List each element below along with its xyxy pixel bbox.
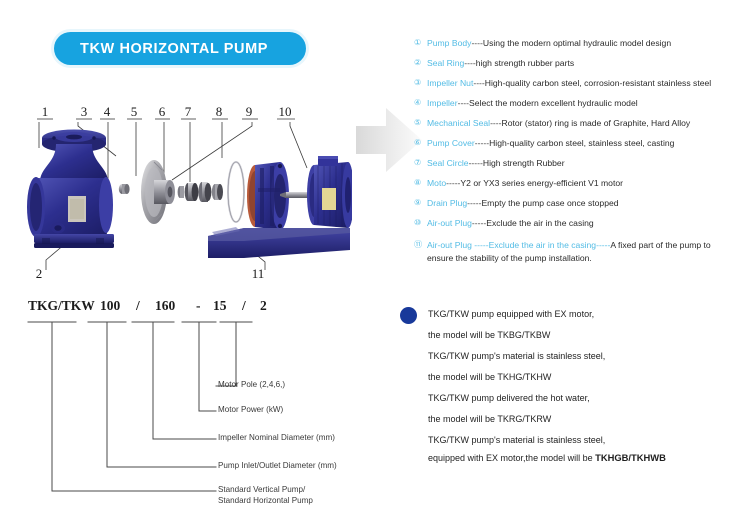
list-item: ③ Impeller Nut ---- High-quality carbon … xyxy=(414,73,752,93)
svg-text:3: 3 xyxy=(81,104,88,119)
part-description: Empty the pump case once stopped xyxy=(481,193,618,213)
model-segment-inlet: 100 xyxy=(100,298,120,314)
model-separator-2: - xyxy=(196,298,201,314)
base-plate-part xyxy=(208,227,350,258)
svg-text:6: 6 xyxy=(159,104,166,119)
model-label-impeller-dia: Impeller Nominal Diameter (mm) xyxy=(218,433,335,442)
svg-text:8: 8 xyxy=(216,104,223,119)
note-line: the model will be TKBG/TKBW xyxy=(400,325,752,346)
list-item: ⑨ Drain Plug ----- Empty the pump case o… xyxy=(414,193,752,213)
part-name: Seal Ring xyxy=(427,53,464,73)
svg-text:1: 1 xyxy=(42,104,49,119)
list-item: ⑥ Pump Cover ----- High-quality carbon s… xyxy=(414,133,752,153)
note-line: TKG/TKW pump delivered the hot water, xyxy=(400,388,752,409)
part-name: Seal Circle xyxy=(427,153,469,173)
impeller-nut-part xyxy=(119,184,130,194)
list-item: ⑩ Air-out Plug ----- Exclude the air in … xyxy=(414,213,752,233)
model-label-pump-type-line1: Standard Vertical Pump/ xyxy=(218,485,305,494)
part-number: ⑤ xyxy=(414,113,427,133)
model-segment-series: TKG/TKW xyxy=(28,298,95,314)
svg-text:9: 9 xyxy=(246,104,253,119)
bullet-dot-icon xyxy=(400,307,417,324)
part-description: High-quality carbon steel, corrosion-res… xyxy=(485,73,711,93)
page-title-banner: TKW HORIZONTAL PUMP xyxy=(54,32,306,65)
part-description: Using the modern optimal hydraulic model… xyxy=(483,33,671,53)
part-dash: ---- xyxy=(464,53,475,73)
part-description: Exclude the air in the casing xyxy=(486,213,594,233)
part-description: High strength Rubber xyxy=(483,153,565,173)
part-name: Pump Cover xyxy=(427,133,475,153)
part-name: Impeller Nut xyxy=(427,73,473,93)
part-number: ⑩ xyxy=(414,213,427,233)
svg-text:5: 5 xyxy=(131,104,138,119)
part-number: ① xyxy=(414,33,427,53)
part-description: Y2 or YX3 series energy-efficient V1 mot… xyxy=(460,173,623,193)
part-dash: ----- xyxy=(469,153,483,173)
exploded-pump-diagram: 1 3 4 5 6 7 8 9 10 2 11 xyxy=(12,100,352,290)
model-leader-lines: Motor Pole (2,4,6,) Motor Power (kW) Imp… xyxy=(14,318,394,499)
note-line: TKG/TKW pump's material is stainless ste… xyxy=(400,346,752,367)
part-name: Mechanical Seal xyxy=(427,113,490,133)
part-number: ⑥ xyxy=(414,133,427,153)
model-designation-block: TKG/TKW 100 / 160 - 15 / 2 xyxy=(14,298,394,494)
model-segment-pole: 2 xyxy=(260,298,267,314)
part-dash: ---- xyxy=(471,33,482,53)
list-item: ① Pump Body ---- Using the modern optima… xyxy=(414,33,752,53)
part-name: Air-out Plug xyxy=(427,213,472,233)
model-variant-notes: TKG/TKW pump equipped with EX motor, the… xyxy=(400,304,752,464)
part-dash: ---- xyxy=(473,73,484,93)
model-label-pump-type-line2: Standard Horizontal Pump xyxy=(218,496,313,505)
part-name: Drain Plug xyxy=(427,193,467,213)
note-line: the model will be TKRG/TKRW xyxy=(400,409,752,430)
part-description: A fixed part of the pump to xyxy=(610,240,710,250)
svg-text:10: 10 xyxy=(279,104,292,119)
list-item: ⑦ Seal Circle ----- High strength Rubber xyxy=(414,153,752,173)
list-item: ④ Impeller ---- Select the modern excell… xyxy=(414,93,752,113)
model-segment-power: 15 xyxy=(213,298,227,314)
mechanical-seal-part xyxy=(178,182,223,202)
part-dash: ----- xyxy=(475,133,489,153)
model-separator-1: / xyxy=(136,298,140,314)
svg-text:7: 7 xyxy=(185,104,192,119)
part-description-line2: ensure the stability of the pump install… xyxy=(414,252,752,265)
svg-text:2: 2 xyxy=(36,266,43,281)
model-label-inlet-outlet-dia: Pump Inlet/Outlet Diameter (mm) xyxy=(218,461,337,470)
part-dash: ----- xyxy=(467,193,481,213)
list-item: ② Seal Ring ---- high strength rubber pa… xyxy=(414,53,752,73)
motor-part xyxy=(307,156,352,228)
pump-body-part xyxy=(27,130,114,249)
part-dash: ---- xyxy=(458,93,469,113)
part-description: high strength rubber parts xyxy=(476,53,574,73)
part-number: ④ xyxy=(414,93,427,113)
list-item: ⑤ Mechanical Seal ---- Rotor (stator) ri… xyxy=(414,113,752,133)
list-item: ⑧ Moto ----- Y2 or YX3 series energy-eff… xyxy=(414,173,752,193)
page-title: TKW HORIZONTAL PUMP xyxy=(54,41,268,57)
impeller-part xyxy=(141,160,175,224)
part-number: ③ xyxy=(414,73,427,93)
part-name-blue: Air-out Plug -----Exclude the air in the… xyxy=(427,240,610,250)
part-number: ⑦ xyxy=(414,153,427,173)
part-name: Pump Body xyxy=(427,33,471,53)
model-separator-3: / xyxy=(242,298,246,314)
note-final-model: TKHGB/TKHWB xyxy=(595,452,666,463)
note-line: TKG/TKW pump equipped with EX motor, xyxy=(400,304,752,325)
svg-text:4: 4 xyxy=(104,104,111,119)
model-label-motor-pole: Motor Pole (2,4,6,) xyxy=(218,380,285,389)
part-name: Moto xyxy=(427,173,446,193)
pump-spec-sheet: TKW HORIZONTAL PUMP xyxy=(0,0,756,500)
part-dash: ----- xyxy=(446,173,460,193)
part-number: ⑧ xyxy=(414,173,427,193)
svg-text:11: 11 xyxy=(252,266,265,281)
part-number: ② xyxy=(414,53,427,73)
model-label-motor-power: Motor Power (kW) xyxy=(218,405,283,414)
part-description: High-quality carbon steel, stainless ste… xyxy=(489,133,674,153)
parts-description-list: ① Pump Body ---- Using the modern optima… xyxy=(414,33,752,264)
part-number: ⑪ xyxy=(414,239,427,252)
note-line: the model will be TKHG/TKHW xyxy=(400,367,752,388)
note-final-line1: TKG/TKW pump's material is stainless ste… xyxy=(400,434,752,447)
part-dash: ---- xyxy=(490,113,501,133)
model-segment-impeller: 160 xyxy=(155,298,175,314)
note-final-prefix: equipped with EX motor,the model will be xyxy=(428,453,595,463)
part-description: Select the modern excellent hydraulic mo… xyxy=(469,93,638,113)
part-description: Rotor (stator) ring is made of Graphite,… xyxy=(502,113,691,133)
seal-circle-part xyxy=(228,162,244,222)
part-dash: ----- xyxy=(472,213,486,233)
note-final-line2: equipped with EX motor,the model will be… xyxy=(400,451,752,464)
list-item-last: ⑪Air-out Plug -----Exclude the air in th… xyxy=(414,239,752,264)
part-name: Impeller xyxy=(427,93,458,113)
part-number: ⑨ xyxy=(414,193,427,213)
